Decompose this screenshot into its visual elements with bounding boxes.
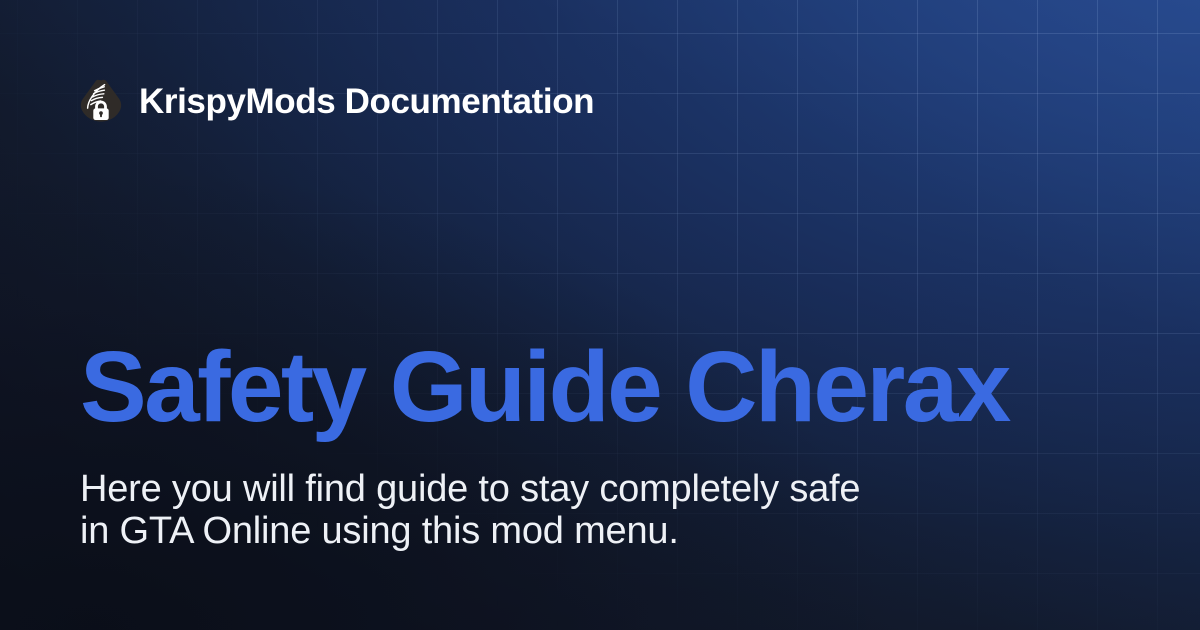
card-content: KrispyMods Documentation Safety Guide Ch… [0, 0, 1200, 630]
page-subtitle: Here you will find guide to stay complet… [80, 468, 870, 552]
brand-title: KrispyMods Documentation [139, 84, 594, 119]
brand-header: KrispyMods Documentation [80, 78, 594, 124]
og-share-card: KrispyMods Documentation Safety Guide Ch… [0, 0, 1200, 630]
page-title: Safety Guide Cherax [80, 336, 1009, 438]
krispymods-lock-leaf-logo-icon [80, 79, 122, 123]
